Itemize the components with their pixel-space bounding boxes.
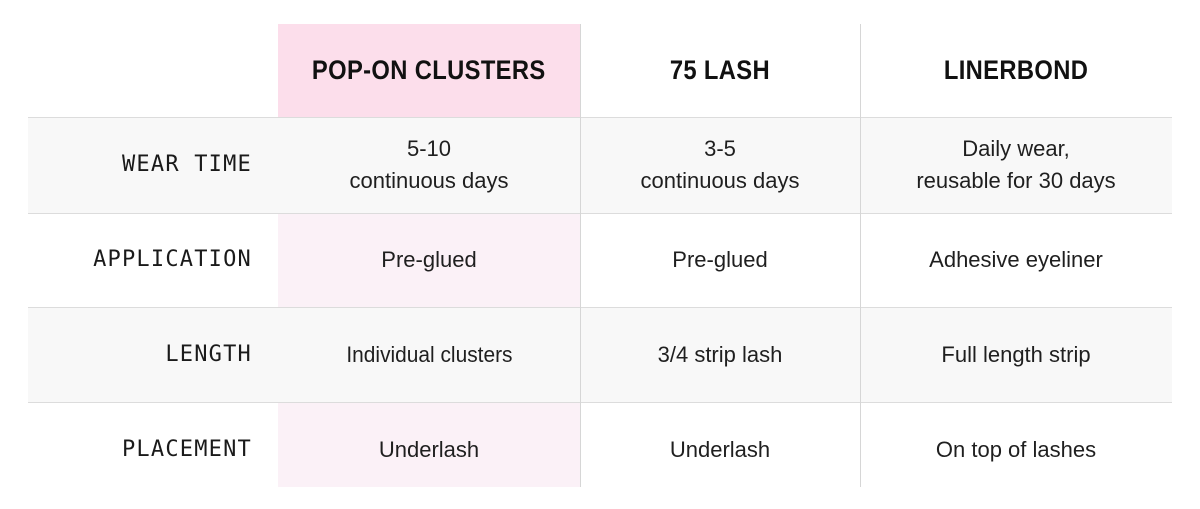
cell-length-pop-on-clusters: Individual clusters [278, 339, 580, 371]
cell-length-linerbond: Full length strip [860, 339, 1172, 371]
cell-placement-linerbond: On top of lashes [860, 434, 1172, 466]
cell-value: Adhesive eyeliner [929, 244, 1103, 276]
cell-placement-pop-on-clusters: Underlash [278, 434, 580, 466]
cell-application-linerbond: Adhesive eyeliner [860, 244, 1172, 276]
row-label-length: LENGTH [28, 342, 278, 367]
cell-value: Daily wear,reusable for 30 days [916, 133, 1115, 197]
cell-application-75-lash: Pre-glued [580, 244, 860, 276]
table-row: LENGTH Individual clusters 3/4 strip las… [28, 307, 1172, 402]
header-cell-linerbond: LINERBOND [860, 55, 1172, 86]
cell-wear-time-75-lash: 3-5continuous days [580, 133, 860, 197]
product-comparison-table: POP-ON CLUSTERS 75 LASH LINERBOND WEAR T… [0, 0, 1200, 509]
table-grid: POP-ON CLUSTERS 75 LASH LINERBOND WEAR T… [28, 24, 1172, 497]
row-label-application: APPLICATION [28, 247, 278, 272]
cell-application-pop-on-clusters: Pre-glued [278, 244, 580, 276]
cell-value: 3/4 strip lash [658, 339, 783, 371]
header-label-75-lash: 75 LASH [670, 55, 770, 86]
header-cell-75-lash: 75 LASH [580, 55, 860, 86]
cell-value: Underlash [379, 434, 479, 466]
table-row: APPLICATION Pre-glued Pre-glued Adhesive… [28, 212, 1172, 307]
row-label-wear-time: WEAR TIME [28, 152, 278, 177]
row-label-placement: PLACEMENT [28, 437, 278, 462]
cell-value: Pre-glued [381, 244, 476, 276]
table-row: PLACEMENT Underlash Underlash On top of … [28, 402, 1172, 497]
cell-placement-75-lash: Underlash [580, 434, 860, 466]
header-cell-pop-on-clusters: POP-ON CLUSTERS [278, 55, 580, 86]
table-row: WEAR TIME 5-10continuous days 3-5continu… [28, 117, 1172, 212]
cell-value: Underlash [670, 434, 770, 466]
cell-value: Individual clusters [346, 339, 512, 371]
cell-wear-time-linerbond: Daily wear,reusable for 30 days [860, 133, 1172, 197]
cell-value: On top of lashes [936, 434, 1096, 466]
cell-value: Pre-glued [672, 244, 767, 276]
cell-value: 5-10continuous days [350, 133, 509, 197]
cell-value: 3-5continuous days [641, 133, 800, 197]
header-label-linerbond: LINERBOND [944, 55, 1088, 86]
header-label-pop-on-clusters: POP-ON CLUSTERS [312, 55, 546, 86]
cell-length-75-lash: 3/4 strip lash [580, 339, 860, 371]
table-header-row: POP-ON CLUSTERS 75 LASH LINERBOND [28, 24, 1172, 117]
cell-wear-time-pop-on-clusters: 5-10continuous days [278, 133, 580, 197]
cell-value: Full length strip [941, 339, 1090, 371]
